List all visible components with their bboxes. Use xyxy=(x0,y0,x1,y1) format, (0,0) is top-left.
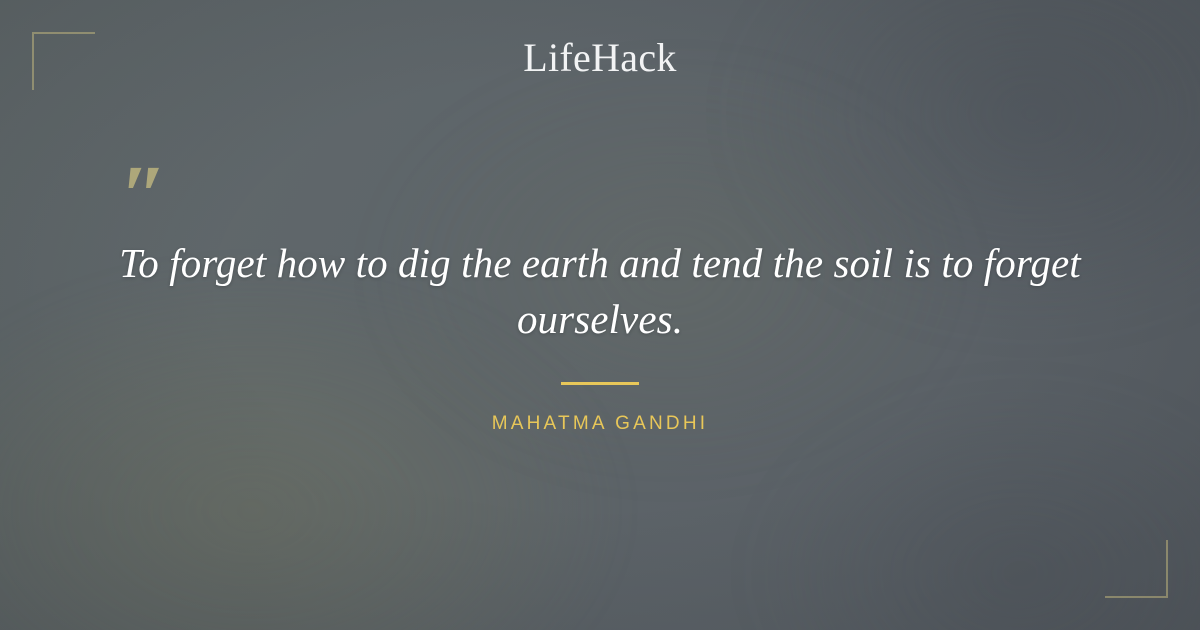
quote-card: LifeHack ″ To forget how to dig the eart… xyxy=(0,0,1200,630)
quote-author: MAHATMA GANDHI xyxy=(0,413,1200,435)
quote-text: To forget how to dig the earth and tend … xyxy=(100,236,1100,348)
quote-block: To forget how to dig the earth and tend … xyxy=(100,236,1100,348)
brand-wordmark: LifeHack xyxy=(0,38,1200,78)
author-divider xyxy=(561,382,639,385)
quote-mark-icon: ″ xyxy=(120,152,168,238)
corner-bracket-bottom-right-icon xyxy=(1105,540,1168,598)
